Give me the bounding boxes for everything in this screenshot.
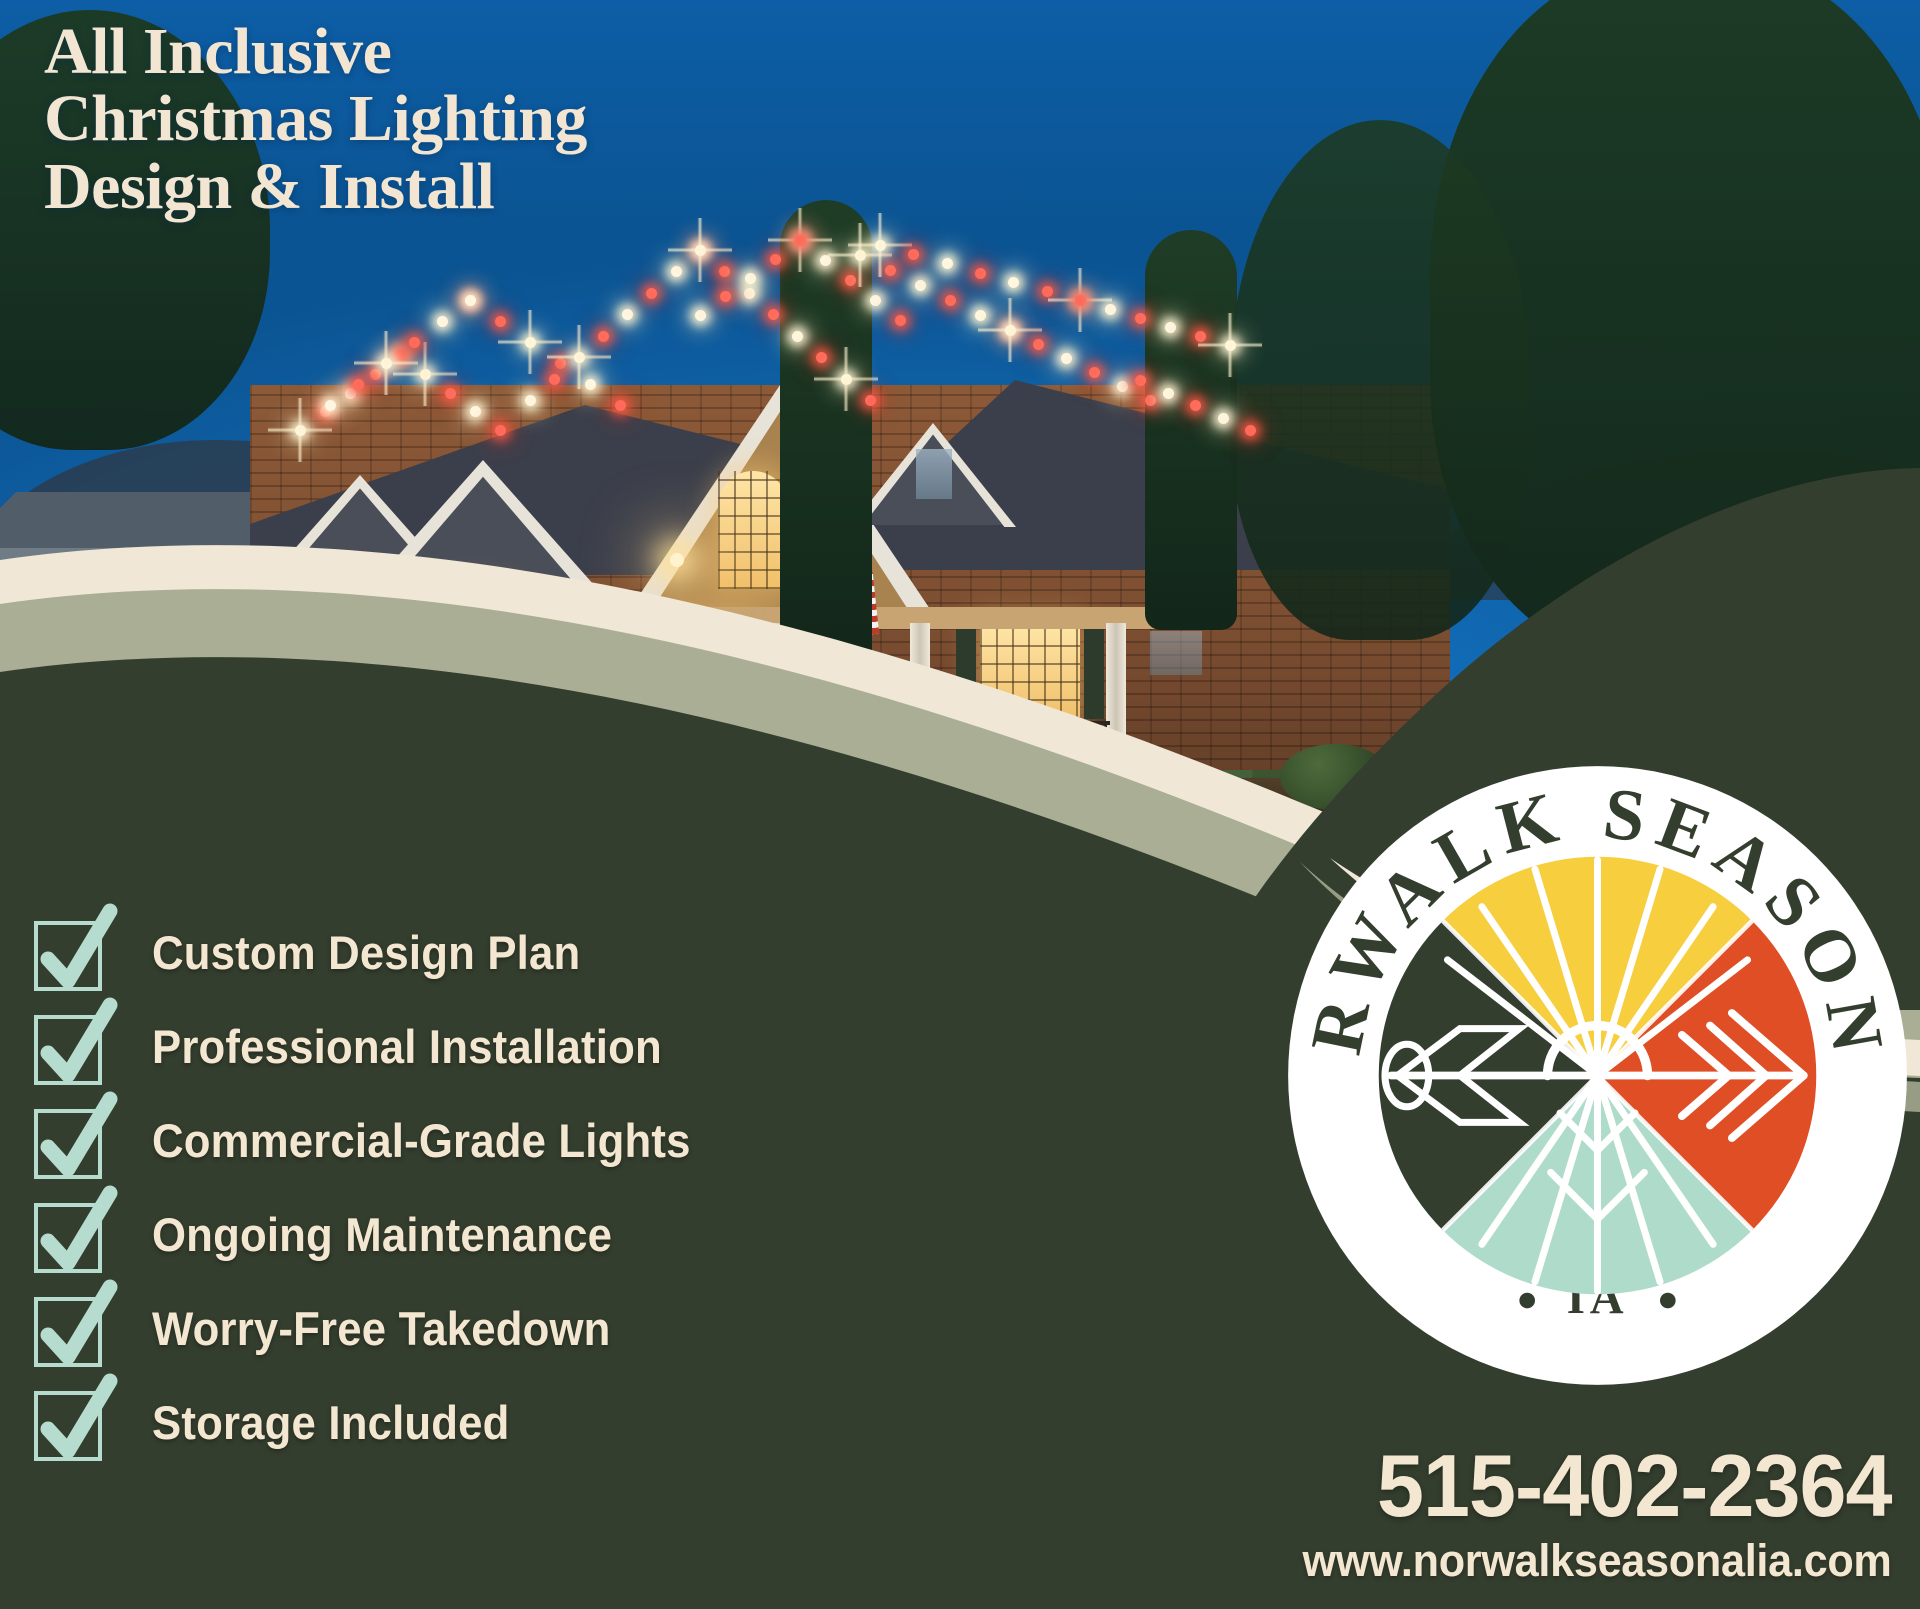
porch-railing-left: [550, 721, 730, 767]
roof-light-bulb-white: [1218, 413, 1229, 424]
roof-light-bulb-white: [792, 331, 803, 342]
checkbox-checked-icon: [34, 1107, 100, 1173]
checkbox-checked-icon: [34, 1201, 100, 1267]
window-left-gable: [442, 591, 504, 675]
porch-rocking-chair-1: [850, 683, 898, 739]
roof-light-bulb-red: [1135, 313, 1146, 324]
logo-dot-left: [1519, 1293, 1535, 1309]
roof-light-bulb-red: [409, 337, 420, 348]
roof-light-bulb-red: [495, 316, 506, 327]
landscape-light-1: [402, 795, 411, 804]
roof-light-bulb-white: [525, 337, 536, 348]
checklist-item: Custom Design Plan: [34, 905, 731, 999]
roof-light-bulb-white: [345, 388, 356, 399]
roof-light-bulb-red: [1145, 395, 1156, 406]
roof-light-bulb-white: [420, 369, 431, 380]
roof-light-bulb-white: [975, 310, 986, 321]
checklist-item-label: Commercial-Grade Lights: [152, 1113, 691, 1168]
checkbox-checked-icon: [34, 919, 100, 985]
cypress-tree-center: [780, 200, 872, 670]
roof-light-bulb-red: [885, 265, 896, 276]
phone-number[interactable]: 515-402-2364: [1303, 1443, 1892, 1529]
logo-emblem: [1379, 857, 1817, 1295]
roof-light-bulb-red: [549, 374, 560, 385]
roof-light-bulb-red: [445, 388, 456, 399]
roof-light-bulb-white: [381, 358, 392, 369]
shrub-1: [330, 756, 416, 814]
website-url[interactable]: www.norwalkseasonalia.com: [1303, 1535, 1892, 1587]
window-left-lower: [426, 665, 494, 767]
roof-light-bulb-white: [942, 258, 953, 269]
checklist-item-label: Custom Design Plan: [152, 925, 580, 980]
roof-light-bulb-red: [975, 268, 986, 279]
roof-light-bulb-white: [745, 273, 756, 284]
window-right-far: [1150, 631, 1202, 675]
roof-light-bulb-white: [875, 240, 886, 251]
checkbox-checked-icon: [34, 1389, 100, 1455]
checklist-item: Storage Included: [34, 1375, 731, 1469]
window-right-shuttered: [980, 623, 1080, 719]
roof-light-bulb-red: [370, 369, 381, 380]
roof-light-bulb-white: [525, 395, 536, 406]
page-title: All Inclusive Christmas Lighting Design …: [44, 18, 587, 220]
roof-light-bulb-red: [1033, 339, 1044, 350]
roof-light-bulb-red: [895, 315, 906, 326]
roof-light-bulb-white: [1163, 388, 1174, 399]
feature-checklist: Custom Design PlanProfessional Installat…: [34, 905, 731, 1469]
roof-light-bulb-red: [770, 254, 781, 265]
roof-light-bulb-white: [744, 288, 755, 299]
roof-light-bulb-red: [353, 379, 364, 390]
roof-light-bulb-white: [1117, 381, 1128, 392]
roof-light-bulb-red: [1135, 375, 1146, 386]
roof-light-bulb-white: [870, 295, 881, 306]
roof-light-bulb-white: [574, 352, 585, 363]
roof-light-bulb-white: [1061, 353, 1072, 364]
roof-light-bulb-white: [855, 250, 866, 261]
roof-light-bulb-white: [1008, 277, 1019, 288]
checkbox-checked-icon: [34, 1013, 100, 1079]
checklist-item: Professional Installation: [34, 999, 731, 1093]
headline-line-1: All Inclusive: [44, 18, 587, 85]
checklist-item-label: Worry-Free Takedown: [152, 1301, 611, 1356]
roof-light-bulb-white: [695, 245, 706, 256]
checklist-item: Ongoing Maintenance: [34, 1187, 731, 1281]
window-porch-center: [670, 615, 762, 725]
checklist-item-label: Professional Installation: [152, 1019, 662, 1074]
shrub-3: [1010, 750, 1106, 812]
checklist-item-label: Ongoing Maintenance: [152, 1207, 612, 1262]
tree-right-tall: [1230, 120, 1530, 640]
roof-light-bulb-white: [1005, 325, 1016, 336]
checklist-item: Commercial-Grade Lights: [34, 1093, 731, 1187]
roof-light-bulb-red: [495, 425, 506, 436]
shrub-2: [450, 764, 524, 816]
roof-light-bulb-white: [1225, 340, 1236, 351]
roof-light-bulb-red: [1195, 331, 1206, 342]
window-center-arched: [718, 471, 788, 589]
cypress-tree-right: [1145, 230, 1237, 630]
roof-light-bulb-red: [598, 331, 609, 342]
landscape-light-4: [1180, 795, 1189, 804]
headline-line-2: Christmas Lighting: [44, 85, 587, 152]
roof-light-bulb-white: [841, 374, 852, 385]
shutter-right: [1084, 623, 1104, 719]
roof-light-bulb-red: [1245, 425, 1256, 436]
checkbox-checked-icon: [34, 1295, 100, 1361]
roof-light-bulb-red: [1089, 367, 1100, 378]
flyer-canvas: All Inclusive Christmas Lighting Design …: [0, 0, 1920, 1609]
roof-light-bulb-red: [945, 295, 956, 306]
roof-light-bulb-red: [555, 358, 566, 369]
roof-light-bulb-white: [1165, 322, 1176, 333]
checklist-item-label: Storage Included: [152, 1395, 510, 1450]
roof-light-bulb-white: [695, 310, 706, 321]
roof-light-bulb-red: [615, 400, 626, 411]
roof-light-bulb-white: [820, 255, 831, 266]
roof-light-bulb-red: [395, 350, 406, 361]
landscape-light-3: [836, 795, 845, 804]
porch-chandelier-light: [670, 553, 684, 567]
landscape-light-2: [612, 799, 621, 808]
roof-light-bulb-white: [915, 280, 926, 291]
porch-rocking-chair-2: [926, 683, 974, 739]
roof-light-bulb-red: [795, 235, 806, 246]
roof-light-bulb-white: [1105, 304, 1116, 315]
roof-light-bulb-white: [295, 425, 306, 436]
window-dormer: [916, 449, 952, 499]
porch-roof: [620, 607, 1180, 629]
roof-light-bulb-red: [865, 395, 876, 406]
company-logo-badge[interactable]: NORWALK SEASONAL IA: [1285, 763, 1910, 1388]
shrub-4: [1140, 760, 1220, 814]
roof-light-bulb-white: [325, 400, 336, 411]
roof-light-bulb-white: [465, 295, 476, 306]
headline-line-3: Design & Install: [44, 153, 587, 220]
roof-light-bulb-red: [1075, 295, 1086, 306]
roof-light-bulb-red: [1042, 286, 1053, 297]
logo-dot-right: [1660, 1293, 1676, 1309]
contact-block: 515-402-2364 www.norwalkseasonalia.com: [1278, 1443, 1892, 1587]
roof-light-bulb-red: [1190, 400, 1201, 411]
roof-light-bulb-white: [585, 379, 596, 390]
roof-light-bulb-white: [437, 316, 448, 327]
checklist-item: Worry-Free Takedown: [34, 1281, 731, 1375]
roof-light-bulb-red: [845, 275, 856, 286]
